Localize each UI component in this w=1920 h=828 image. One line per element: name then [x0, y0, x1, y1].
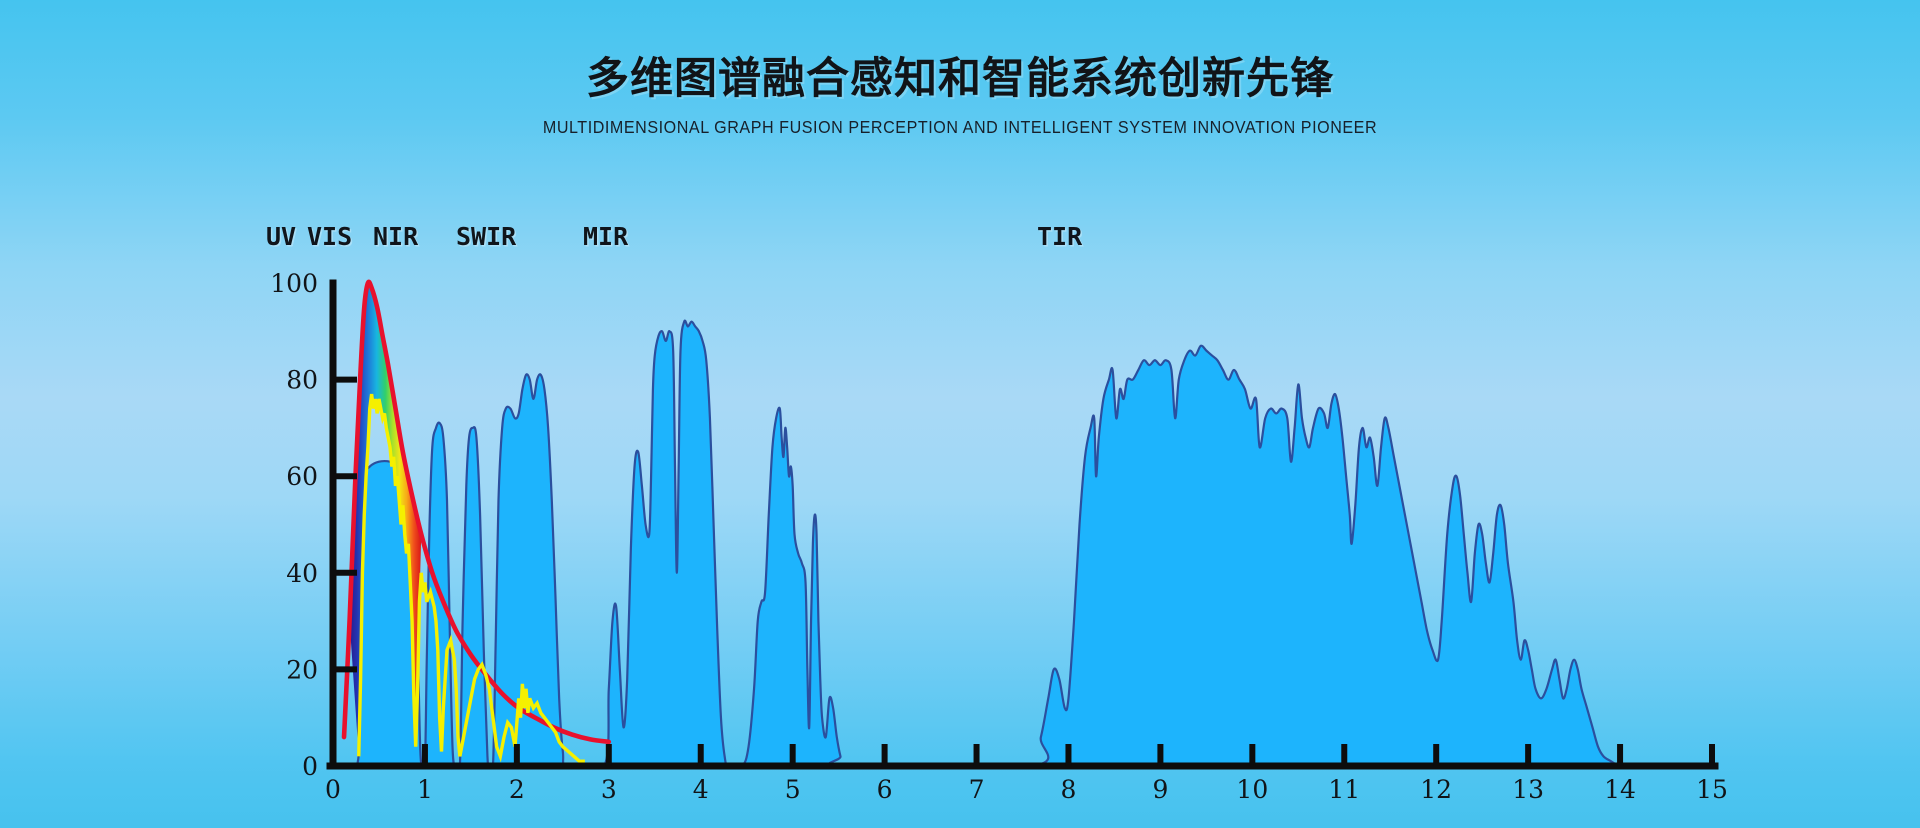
transmission-area-group — [333, 282, 1618, 778]
x-tick-label: 14 — [1604, 775, 1636, 804]
spectrum-chart: 0123456789101112131415 020406080100 — [0, 0, 1920, 828]
x-tick-label: 0 — [325, 775, 341, 804]
y-tick-label: 80 — [286, 366, 318, 395]
x-tick-label: 7 — [969, 775, 985, 804]
x-tick-label: 3 — [601, 775, 617, 804]
transmission-area — [333, 321, 1618, 778]
x-tick-label: 6 — [877, 775, 893, 804]
x-tick-label: 12 — [1420, 775, 1452, 804]
x-tick-label: 9 — [1152, 775, 1168, 804]
x-tick-label: 15 — [1696, 775, 1728, 804]
y-tick-label: 20 — [286, 655, 318, 684]
x-tick-label: 11 — [1328, 775, 1360, 804]
x-axis-tick-labels: 0123456789101112131415 — [325, 775, 1728, 804]
x-tick-label: 4 — [693, 775, 709, 804]
y-tick-label: 40 — [286, 559, 318, 588]
x-tick-label: 5 — [785, 775, 801, 804]
y-axis-tick-labels: 020406080100 — [270, 269, 318, 781]
x-tick-label: 8 — [1061, 775, 1077, 804]
y-tick-label: 100 — [270, 269, 318, 298]
x-tick-label: 1 — [417, 775, 433, 804]
x-tick-label: 2 — [509, 775, 525, 804]
x-tick-label: 10 — [1236, 775, 1268, 804]
y-tick-label: 60 — [286, 462, 318, 491]
y-tick-label: 0 — [302, 752, 318, 781]
poster-root: 多维图谱融合感知和智能系统创新先锋 MULTIDIMENSIONAL GRAPH… — [0, 0, 1920, 828]
x-tick-label: 13 — [1512, 775, 1544, 804]
